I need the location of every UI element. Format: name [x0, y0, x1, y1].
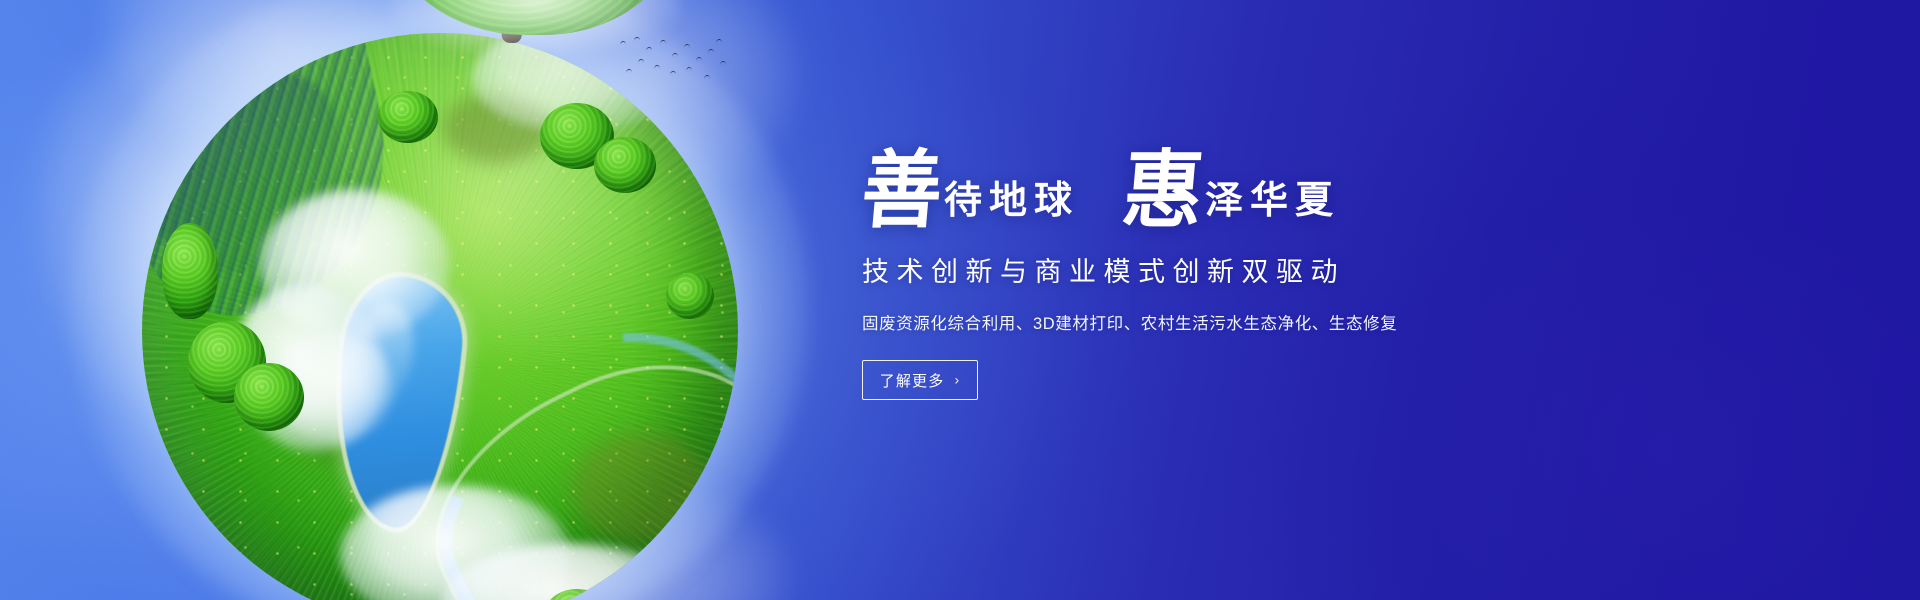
bird-flock-icon [616, 35, 746, 91]
lake-highlight [339, 296, 423, 416]
learn-more-button[interactable]: 了解更多 › [862, 360, 978, 400]
tree-canopy [162, 223, 218, 319]
tree-mist [390, 0, 680, 55]
cloud-wisp [500, 0, 800, 205]
headline-rest-2: 泽华夏 [1205, 181, 1340, 228]
grass-texture [142, 33, 738, 600]
grass-texture-fine [142, 33, 738, 600]
cloud-wisp [0, 0, 428, 495]
terrain-patch [572, 433, 712, 543]
lake [325, 272, 468, 533]
tree-canopy [666, 273, 714, 319]
hero-description: 固废资源化综合利用、3D建材打印、农村生活污水生态净化、生态修复 [862, 310, 1562, 334]
tiny-planet-illustration [30, 0, 850, 600]
river-branch [406, 267, 738, 600]
headline-brush-char-2: 惠 [1120, 151, 1207, 231]
cloud [472, 33, 682, 133]
forest-ridge-shadow [148, 73, 338, 273]
headline-brush-char-1: 善 [859, 151, 946, 231]
headline-rest-1: 待地球 [944, 181, 1079, 228]
tree-canopy [378, 91, 438, 143]
cloud [340, 485, 570, 600]
cloud [442, 543, 692, 600]
river [400, 321, 738, 600]
tree-canopy [234, 363, 304, 431]
cloud-wisp [360, 465, 790, 600]
hero-copy: 善 待地球 惠 泽华夏 技术创新与商业模式创新双驱动 固废资源化综合利用、3D建… [862, 138, 1562, 400]
cloud [274, 333, 394, 443]
hero-subtitle: 技术创新与商业模式创新双驱动 [862, 250, 1562, 289]
terrain-patch [522, 553, 642, 600]
wildflower-speckle [142, 33, 738, 600]
terrain-patch [442, 93, 552, 163]
forest-ridge [142, 33, 415, 333]
page-title: 善 待地球 惠 泽华夏 [862, 138, 1562, 228]
green-planet-sphere [142, 33, 738, 600]
chevron-right-icon: › [954, 373, 960, 387]
learn-more-label: 了解更多 [880, 370, 945, 391]
tree-trunk [501, 0, 524, 43]
cloud-wisp [73, 0, 488, 220]
tree-canopy [544, 589, 610, 600]
cloud [209, 262, 408, 473]
terrain-patch [292, 383, 382, 463]
atmosphere-halo [70, 0, 810, 600]
cloud [260, 189, 450, 339]
large-tree-canopy [382, 0, 682, 35]
hero-banner: 善 待地球 惠 泽华夏 技术创新与商业模式创新双驱动 固废资源化综合利用、3D建… [0, 0, 1920, 600]
tree-canopy [540, 103, 614, 169]
tree-canopy [188, 321, 266, 403]
tree-canopy [594, 137, 656, 193]
